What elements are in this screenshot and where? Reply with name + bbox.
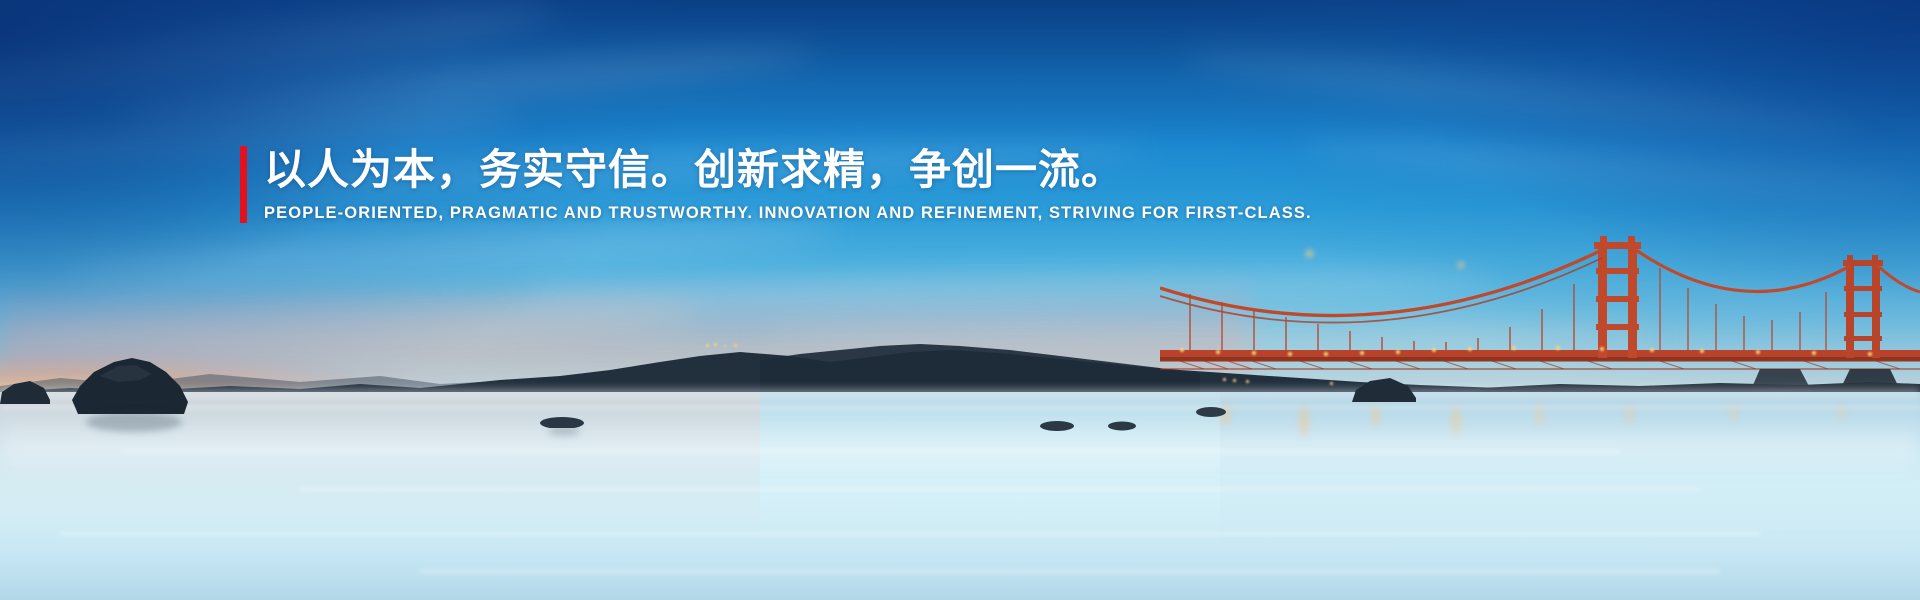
rock	[0, 378, 50, 404]
bridge-light	[1288, 352, 1292, 356]
red-accent-bar	[240, 146, 247, 223]
bridge-light	[1868, 352, 1872, 356]
horizon-haze	[0, 386, 1920, 400]
light-reflection	[1452, 406, 1460, 434]
banner-copy: 以人为本，务实守信。创新求精，争创一流。 PEOPLE-ORIENTED, PR…	[264, 146, 1312, 223]
bridge-light	[1252, 351, 1256, 355]
light-reflection	[1536, 404, 1543, 426]
rock-reflection	[86, 412, 182, 432]
light-reflection	[1838, 404, 1845, 420]
bridge-light	[1556, 346, 1560, 350]
bridge-light	[1216, 350, 1220, 354]
banner-subheadline: PEOPLE-ORIENTED, PRAGMATIC AND TRUSTWORT…	[264, 204, 1312, 223]
bridge-light	[1180, 348, 1184, 352]
foreground-rock	[70, 356, 190, 414]
light-reflection	[1372, 404, 1379, 428]
bridge-light	[1812, 351, 1816, 355]
ridge-light	[734, 344, 737, 347]
banner-text-block: 以人为本，务实守信。创新求精，争创一流。 PEOPLE-ORIENTED, PR…	[240, 146, 1312, 223]
rock	[1040, 418, 1074, 430]
bridge-tower-light	[1458, 262, 1464, 268]
ridge-light	[724, 345, 726, 347]
bridge-light	[1600, 347, 1604, 351]
light-reflection	[1626, 404, 1633, 424]
rock	[1108, 418, 1136, 429]
light-reflection	[1300, 406, 1308, 436]
water-ripple	[300, 488, 1700, 491]
water-ripple	[120, 450, 1620, 453]
bridge-light	[1468, 347, 1472, 351]
bridge-tower-light	[1306, 250, 1313, 257]
bridge-light	[1396, 350, 1400, 354]
water-sheen	[0, 418, 1920, 478]
rock	[1196, 404, 1226, 416]
hero-banner: 以人为本，务实守信。创新求精，争创一流。 PEOPLE-ORIENTED, PR…	[0, 0, 1920, 600]
light-reflection	[1730, 404, 1737, 422]
rock-reflection	[548, 426, 580, 436]
bridge-light	[1512, 346, 1516, 350]
rock	[1352, 376, 1416, 402]
bridge-light	[1432, 348, 1436, 352]
water-ripple	[60, 532, 1760, 535]
ridge-light	[714, 343, 717, 346]
bridge-light	[1650, 348, 1654, 352]
bridge-light	[1324, 352, 1328, 356]
bridge-light	[1700, 349, 1704, 353]
banner-headline: 以人为本，务实守信。创新求精，争创一流。	[264, 146, 1312, 195]
water-ripple	[420, 570, 1720, 573]
bridge-light	[1756, 350, 1760, 354]
bridge-light	[1360, 351, 1364, 355]
ridge-light	[706, 344, 709, 347]
water-surface	[0, 392, 1920, 600]
